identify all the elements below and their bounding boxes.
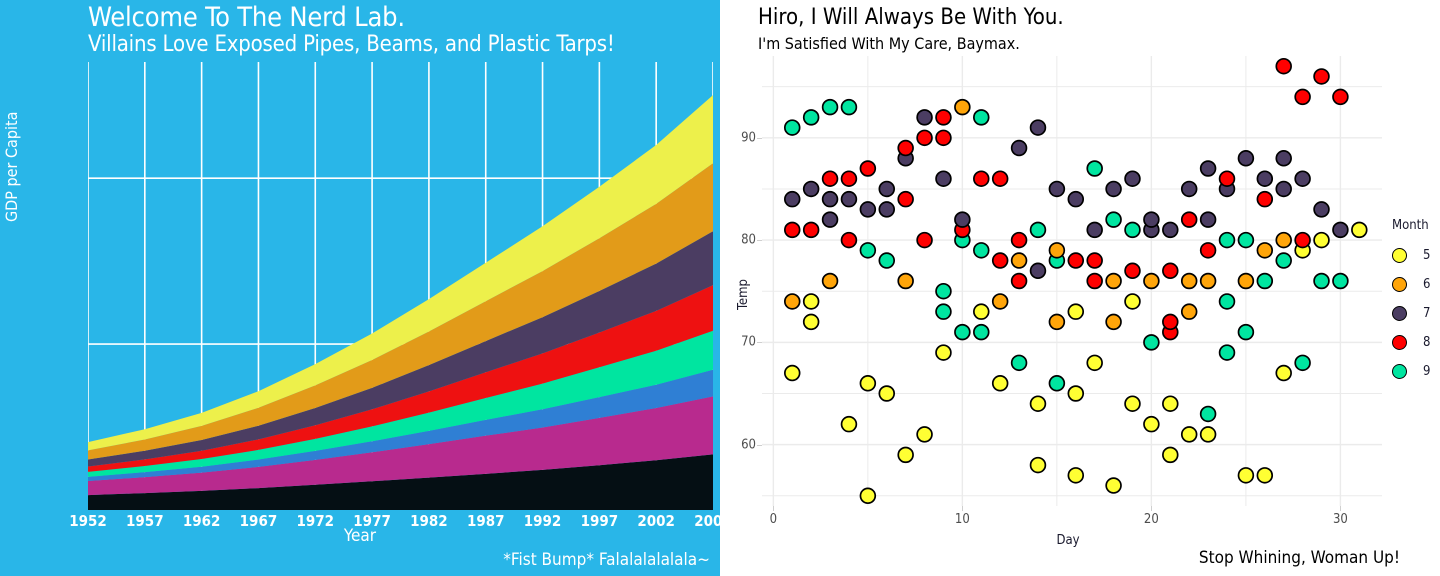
- scatter-point[interactable]: [785, 120, 800, 135]
- left-x-tick-label: 1967: [240, 512, 278, 530]
- scatter-point[interactable]: [917, 110, 932, 125]
- scatter-point[interactable]: [1239, 325, 1254, 340]
- right-x-tick-label: 0: [770, 512, 777, 527]
- right-y-tickmark: [757, 342, 762, 343]
- legend-item-month-8[interactable]: 8: [1392, 328, 1430, 357]
- scatter-point[interactable]: [1276, 233, 1291, 248]
- scatter-point[interactable]: [1239, 274, 1254, 289]
- scatter-point[interactable]: [1049, 315, 1064, 330]
- scatter-point[interactable]: [1087, 253, 1102, 268]
- left-x-tick-label: 1972: [296, 512, 334, 530]
- scatter-point[interactable]: [1031, 222, 1046, 237]
- scatter-point[interactable]: [1201, 212, 1216, 227]
- right-y-tick-label: 60: [726, 437, 756, 452]
- scatter-point[interactable]: [1163, 396, 1178, 411]
- scatter-point[interactable]: [917, 427, 932, 442]
- scatter-point[interactable]: [1144, 335, 1159, 350]
- scatter-point[interactable]: [1106, 182, 1121, 197]
- scatter-point[interactable]: [1068, 304, 1083, 319]
- scatter-point[interactable]: [974, 243, 989, 258]
- temp-scatter-chart-panel: Hiro, I Will Always Be With You. I'm Sat…: [720, 0, 1440, 576]
- scatter-point[interactable]: [1049, 376, 1064, 391]
- scatter-point[interactable]: [955, 325, 970, 340]
- legend-swatch-icon: [1392, 277, 1407, 292]
- legend-swatch-icon: [1392, 248, 1407, 263]
- right-y-tickmark: [757, 138, 762, 139]
- scatter-point[interactable]: [1125, 222, 1140, 237]
- scatter-point[interactable]: [1220, 294, 1235, 309]
- scatter-point[interactable]: [1220, 233, 1235, 248]
- scatter-point[interactable]: [993, 253, 1008, 268]
- scatter-point[interactable]: [1144, 212, 1159, 227]
- scatter-point[interactable]: [1163, 222, 1178, 237]
- scatter-point[interactable]: [1276, 253, 1291, 268]
- scatter-point[interactable]: [1333, 90, 1348, 105]
- legend-swatch-icon: [1392, 306, 1407, 321]
- left-x-tick-label: 1977: [353, 512, 391, 530]
- left-x-tick-label: 1962: [183, 512, 221, 530]
- scatter-point[interactable]: [1106, 478, 1121, 493]
- right-x-tick-label: 20: [1144, 512, 1159, 527]
- scatter-point[interactable]: [936, 110, 951, 125]
- legend-swatch-icon: [1392, 335, 1407, 350]
- scatter-point[interactable]: [917, 233, 932, 248]
- legend-item-month-5[interactable]: 5: [1392, 241, 1430, 270]
- scatter-point[interactable]: [823, 100, 838, 115]
- scatter-point[interactable]: [1144, 274, 1159, 289]
- scatter-point[interactable]: [955, 100, 970, 115]
- scatter-point[interactable]: [1049, 243, 1064, 258]
- scatter-point[interactable]: [974, 110, 989, 125]
- scatter-point[interactable]: [1314, 202, 1329, 217]
- left-chart-caption: *Fist Bump* Falalalalalala~: [503, 550, 710, 570]
- scatter-point[interactable]: [1276, 59, 1291, 74]
- scatter-point[interactable]: [1201, 161, 1216, 176]
- scatter-chart-svg: [762, 56, 1382, 506]
- scatter-point[interactable]: [1125, 294, 1140, 309]
- right-y-tickmark: [757, 445, 762, 446]
- scatter-point[interactable]: [860, 161, 875, 176]
- scatter-point[interactable]: [1163, 447, 1178, 462]
- scatter-point[interactable]: [1012, 355, 1027, 370]
- right-y-tick-label: 90: [726, 130, 756, 145]
- scatter-point[interactable]: [898, 447, 913, 462]
- scatter-point[interactable]: [879, 182, 894, 197]
- scatter-point[interactable]: [1125, 171, 1140, 186]
- scatter-point[interactable]: [879, 202, 894, 217]
- scatter-point[interactable]: [974, 171, 989, 186]
- scatter-point[interactable]: [1182, 427, 1197, 442]
- left-x-tick-label: 1982: [410, 512, 448, 530]
- right-chart-caption: Stop Whining, Woman Up!: [1199, 548, 1400, 568]
- right-x-axis-label: Day: [758, 533, 1378, 548]
- scatter-plot-area: [762, 56, 1382, 506]
- right-y-tick-label: 70: [726, 335, 756, 350]
- scatter-point[interactable]: [804, 182, 819, 197]
- scatter-point[interactable]: [1012, 253, 1027, 268]
- scatter-point[interactable]: [1257, 468, 1272, 483]
- scatter-point[interactable]: [823, 171, 838, 186]
- scatter-point[interactable]: [1333, 222, 1348, 237]
- area-chart-svg: [88, 62, 713, 510]
- left-x-tick-label: 1992: [524, 512, 562, 530]
- scatter-point[interactable]: [1352, 222, 1367, 237]
- scatter-point[interactable]: [804, 222, 819, 237]
- scatter-point[interactable]: [1201, 427, 1216, 442]
- scatter-point[interactable]: [860, 488, 875, 503]
- scatter-point[interactable]: [1087, 274, 1102, 289]
- scatter-point[interactable]: [936, 284, 951, 299]
- left-x-tick-label: 1997: [581, 512, 619, 530]
- scatter-point[interactable]: [974, 304, 989, 319]
- area-plot-area: [88, 62, 713, 510]
- scatter-point[interactable]: [785, 366, 800, 381]
- legend-item-month-7[interactable]: 7: [1392, 299, 1430, 328]
- scatter-point[interactable]: [1257, 274, 1272, 289]
- scatter-point[interactable]: [1295, 171, 1310, 186]
- scatter-point[interactable]: [936, 345, 951, 360]
- scatter-point[interactable]: [1276, 366, 1291, 381]
- scatter-point[interactable]: [1125, 396, 1140, 411]
- scatter-point[interactable]: [842, 233, 857, 248]
- scatter-point[interactable]: [1031, 458, 1046, 473]
- scatter-point[interactable]: [842, 192, 857, 207]
- right-chart-title: Hiro, I Will Always Be With You.: [758, 5, 1064, 30]
- scatter-point[interactable]: [1220, 171, 1235, 186]
- right-x-tick-label: 30: [1333, 512, 1348, 527]
- scatter-point[interactable]: [1163, 263, 1178, 278]
- scatter-point[interactable]: [823, 192, 838, 207]
- scatter-point[interactable]: [1068, 386, 1083, 401]
- scatter-point[interactable]: [1049, 182, 1064, 197]
- scatter-point[interactable]: [1144, 417, 1159, 432]
- scatter-point[interactable]: [842, 171, 857, 186]
- scatter-point[interactable]: [1314, 69, 1329, 84]
- legend-item-label: 5: [1423, 248, 1430, 263]
- legend-item-month-6[interactable]: 6: [1392, 270, 1430, 299]
- scatter-point[interactable]: [1333, 274, 1348, 289]
- left-y-axis-label: GDP per Capita: [2, 112, 21, 222]
- right-y-tickmark: [757, 240, 762, 241]
- scatter-point[interactable]: [860, 243, 875, 258]
- scatter-point[interactable]: [804, 315, 819, 330]
- right-chart-subtitle: I'm Satisfied With My Care, Baymax.: [758, 34, 1020, 53]
- right-x-tick-label: 10: [955, 512, 970, 527]
- legend-items: 56789: [1392, 241, 1430, 386]
- dual-chart-figure: Welcome To The Nerd Lab. Villains Love E…: [0, 0, 1440, 576]
- gdp-area-chart-panel: Welcome To The Nerd Lab. Villains Love E…: [0, 0, 720, 576]
- legend-item-month-9[interactable]: 9: [1392, 357, 1430, 386]
- scatter-point[interactable]: [1031, 396, 1046, 411]
- left-x-tick-label: 1987: [467, 512, 505, 530]
- scatter-point[interactable]: [1276, 151, 1291, 166]
- right-y-axis-label: Temp: [736, 279, 751, 310]
- scatter-point[interactable]: [1182, 182, 1197, 197]
- scatter-point[interactable]: [1201, 243, 1216, 258]
- scatter-point[interactable]: [804, 110, 819, 125]
- scatter-point[interactable]: [1012, 141, 1027, 156]
- scatter-point[interactable]: [842, 100, 857, 115]
- left-chart-subtitle: Villains Love Exposed Pipes, Beams, and …: [88, 32, 615, 57]
- scatter-point[interactable]: [1182, 274, 1197, 289]
- scatter-point[interactable]: [974, 325, 989, 340]
- scatter-point[interactable]: [1201, 274, 1216, 289]
- scatter-point[interactable]: [1087, 355, 1102, 370]
- scatter-point[interactable]: [1257, 243, 1272, 258]
- scatter-point[interactable]: [842, 417, 857, 432]
- scatter-point[interactable]: [1201, 407, 1216, 422]
- scatter-point[interactable]: [1012, 274, 1027, 289]
- scatter-point[interactable]: [1239, 151, 1254, 166]
- scatter-point[interactable]: [823, 274, 838, 289]
- scatter-point[interactable]: [1031, 263, 1046, 278]
- scatter-point[interactable]: [1314, 274, 1329, 289]
- scatter-point[interactable]: [1106, 212, 1121, 227]
- scatter-point[interactable]: [1068, 192, 1083, 207]
- month-legend: Month 56789: [1392, 218, 1430, 386]
- scatter-point[interactable]: [917, 130, 932, 145]
- scatter-point[interactable]: [936, 304, 951, 319]
- scatter-point[interactable]: [785, 294, 800, 309]
- scatter-point[interactable]: [1087, 161, 1102, 176]
- scatter-point[interactable]: [860, 376, 875, 391]
- right-x-tickmark: [773, 506, 774, 511]
- scatter-point[interactable]: [1125, 263, 1140, 278]
- scatter-point[interactable]: [1276, 182, 1291, 197]
- scatter-point[interactable]: [804, 294, 819, 309]
- scatter-point[interactable]: [1106, 315, 1121, 330]
- right-x-tickmark: [1340, 506, 1341, 511]
- scatter-point[interactable]: [1012, 233, 1027, 248]
- right-x-tickmark: [962, 506, 963, 511]
- scatter-point[interactable]: [1182, 212, 1197, 227]
- scatter-panel-bg: [762, 56, 1382, 506]
- right-y-tick-label: 80: [726, 233, 756, 248]
- legend-title: Month: [1392, 218, 1430, 233]
- scatter-point[interactable]: [955, 212, 970, 227]
- left-x-tick-label: 1957: [126, 512, 164, 530]
- legend-item-label: 6: [1423, 277, 1430, 292]
- legend-item-label: 7: [1423, 306, 1430, 321]
- scatter-point[interactable]: [1182, 304, 1197, 319]
- scatter-point[interactable]: [1295, 355, 1310, 370]
- scatter-point[interactable]: [1087, 222, 1102, 237]
- scatter-point[interactable]: [1314, 233, 1329, 248]
- scatter-point[interactable]: [936, 171, 951, 186]
- scatter-point[interactable]: [1257, 171, 1272, 186]
- scatter-point[interactable]: [1257, 192, 1272, 207]
- scatter-point[interactable]: [936, 130, 951, 145]
- legend-item-label: 9: [1423, 364, 1430, 379]
- scatter-point[interactable]: [860, 202, 875, 217]
- left-x-tick-label: 1952: [69, 512, 107, 530]
- scatter-point[interactable]: [898, 141, 913, 156]
- scatter-point[interactable]: [1163, 315, 1178, 330]
- legend-item-label: 8: [1423, 335, 1430, 350]
- scatter-point[interactable]: [1295, 233, 1310, 248]
- scatter-point[interactable]: [993, 171, 1008, 186]
- scatter-point[interactable]: [1068, 468, 1083, 483]
- scatter-point[interactable]: [1295, 90, 1310, 105]
- scatter-point[interactable]: [1239, 233, 1254, 248]
- scatter-point[interactable]: [879, 386, 894, 401]
- scatter-point[interactable]: [785, 192, 800, 207]
- scatter-point[interactable]: [823, 212, 838, 227]
- scatter-point[interactable]: [898, 274, 913, 289]
- scatter-point[interactable]: [1106, 274, 1121, 289]
- scatter-point[interactable]: [1239, 468, 1254, 483]
- scatter-point[interactable]: [898, 192, 913, 207]
- legend-swatch-icon: [1392, 364, 1407, 379]
- left-x-tick-label: 2002: [637, 512, 675, 530]
- scatter-point[interactable]: [879, 253, 894, 268]
- scatter-point[interactable]: [993, 294, 1008, 309]
- right-x-tickmark: [1151, 506, 1152, 511]
- scatter-point[interactable]: [1220, 345, 1235, 360]
- scatter-point[interactable]: [1031, 120, 1046, 135]
- left-chart-title: Welcome To The Nerd Lab.: [88, 2, 405, 33]
- scatter-point[interactable]: [993, 376, 1008, 391]
- scatter-point[interactable]: [1068, 253, 1083, 268]
- scatter-point[interactable]: [785, 222, 800, 237]
